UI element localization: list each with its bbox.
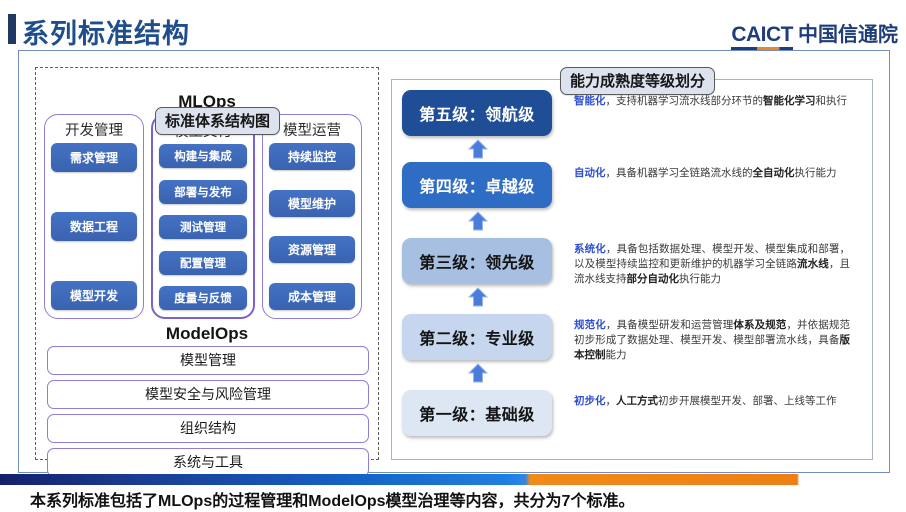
mlops-item-chip[interactable]: 需求管理 [51,143,137,172]
level-text: 执行能力 [795,167,837,179]
maturity-level-description: 初步化，人工方式初步开展模型开发、部署、上线等工作 [552,390,864,409]
footer-caption-area: 本系列标准包括了MLOps的过程管理和ModelOps模型治理等内容，共分为7个… [0,485,906,512]
mlops-item-chip[interactable]: 数据工程 [51,212,137,241]
level-text: ，支持机器学习流水线部分环节的 [606,95,764,107]
modelops-rows: 模型管理模型安全与风险管理组织结构系统与工具 [47,346,369,477]
mlops-item-chip[interactable]: 持续监控 [269,143,355,170]
maturity-level-box[interactable]: 第五级：领航级 [402,90,552,136]
maturity-levels-chip: 能力成熟度等级划分 [560,67,715,95]
level-emphasis: 部分自动化 [627,273,680,285]
level-keyword: 自动化 [574,167,606,179]
mlops-item-chip[interactable]: 构建与集成 [159,144,247,168]
level-keyword: 初步化 [574,395,606,407]
maturity-level-row: 第五级：领航级智能化，支持机器学习流水线部分环节的智能化学习和执行 [402,90,864,136]
mlops-item-chip[interactable]: 成本管理 [269,283,355,310]
level-text: 执行能力 [679,273,721,285]
page-title: 系列标准结构 [22,12,190,51]
level-text: ，具备模型研发和运营管理 [606,319,733,331]
mlops-column-items: 需求管理数据工程模型开发 [51,143,137,312]
up-arrow-icon [467,287,489,307]
maturity-level-box[interactable]: 第四级：卓越级 [402,162,552,208]
level-emphasis: 体系及规范 [733,319,786,331]
modelops-row[interactable]: 系统与工具 [47,448,369,477]
mlops-item-chip[interactable]: 模型开发 [51,281,137,310]
mlops-item-chip[interactable]: 配置管理 [159,251,247,275]
level-emphasis: 全自动化 [753,167,795,179]
level-emphasis: 智能化学习 [763,95,816,107]
level-text: ， [606,395,617,407]
maturity-level-row: 第三级：领先级系统化，具备包括数据处理、模型开发、模型集成和部署，以及模型持续监… [402,238,864,287]
footer-caption: 本系列标准包括了MLOps的过程管理和ModelOps模型治理等内容，共分为7个… [0,487,634,511]
level-text: ，具备机器学习全链路流水线的 [606,167,753,179]
slide-canvas: 系列标准结构 CAICT 中国信通院 MLOps 开发管理需求管理数据工程模型开… [0,0,906,512]
mlops-column-3: 模型运营持续监控模型维护资源管理成本管理 [262,114,362,319]
slide-header: 系列标准结构 CAICT 中国信通院 [0,0,906,52]
maturity-levels-list: 第五级：领航级智能化，支持机器学习流水线部分环节的智能化学习和执行第四级：卓越级… [402,90,864,451]
mlops-column-2: 模型交付构建与集成部署与发布测试管理配置管理度量与反馈 [151,114,255,319]
logo-chinese-text: 中国信通院 [798,18,898,47]
mlops-columns: 开发管理需求管理数据工程模型开发模型交付构建与集成部署与发布测试管理配置管理度量… [44,114,372,319]
mlops-column-title: 开发管理 [65,119,123,140]
modelops-heading: ModelOps [36,324,378,344]
mlops-column-items: 构建与集成部署与发布测试管理配置管理度量与反馈 [159,144,247,311]
up-arrow-icon [467,211,489,231]
maturity-levels-panel: 第五级：领航级智能化，支持机器学习流水线部分环节的智能化学习和执行第四级：卓越级… [391,79,873,460]
maturity-level-description: 规范化，具备模型研发和运营管理体系及规范，并依据规范初步形成了数据处理、模型开发… [552,314,864,363]
footer-gradient-bar [0,474,906,485]
caict-logo: CAICT 中国信通院 [731,18,898,47]
maturity-level-row: 第二级：专业级规范化，具备模型研发和运营管理体系及规范，并依据规范初步形成了数据… [402,314,864,363]
mlops-item-chip[interactable]: 度量与反馈 [159,286,247,310]
modelops-row[interactable]: 模型安全与风险管理 [47,380,369,409]
standards-structure-chip: 标准体系结构图 [155,107,280,135]
slide-body-frame: MLOps 开发管理需求管理数据工程模型开发模型交付构建与集成部署与发布测试管理… [18,50,890,473]
mlops-item-chip[interactable]: 测试管理 [159,215,247,239]
level-text: 能力 [606,349,627,361]
level-keyword: 系统化 [574,243,606,255]
maturity-level-description: 系统化，具备包括数据处理、模型开发、模型集成和部署，以及模型持续监控和更新维护的… [552,238,864,287]
logo-mark: CAICT [731,23,793,47]
mlops-item-chip[interactable]: 资源管理 [269,236,355,263]
modelops-row[interactable]: 模型管理 [47,346,369,375]
level-emphasis: 人工方式 [616,395,658,407]
maturity-level-description: 自动化，具备机器学习全链路流水线的全自动化执行能力 [552,162,864,181]
mlops-item-chip[interactable]: 模型维护 [269,190,355,217]
maturity-level-box[interactable]: 第二级：专业级 [402,314,552,360]
title-accent-bar [8,14,16,44]
maturity-level-box[interactable]: 第一级：基础级 [402,390,552,436]
maturity-level-row: 第一级：基础级初步化，人工方式初步开展模型开发、部署、上线等工作 [402,390,864,436]
level-emphasis: 流水线 [797,258,829,270]
mlops-column-items: 持续监控模型维护资源管理成本管理 [269,143,355,312]
level-keyword: 规范化 [574,319,606,331]
maturity-level-box[interactable]: 第三级：领先级 [402,238,552,284]
up-arrow-icon [467,139,489,159]
logo-mark-text: CAICT [731,23,793,46]
mlops-column-title: 模型运营 [283,119,341,140]
mlops-column-1: 开发管理需求管理数据工程模型开发 [44,114,144,319]
level-text: 和执行 [816,95,848,107]
level-keyword: 智能化 [574,95,606,107]
maturity-level-row: 第四级：卓越级自动化，具备机器学习全链路流水线的全自动化执行能力 [402,162,864,208]
up-arrow-icon [467,363,489,383]
level-text: 初步开展模型开发、部署、上线等工作 [658,395,837,407]
mlops-item-chip[interactable]: 部署与发布 [159,180,247,204]
modelops-row[interactable]: 组织结构 [47,414,369,443]
